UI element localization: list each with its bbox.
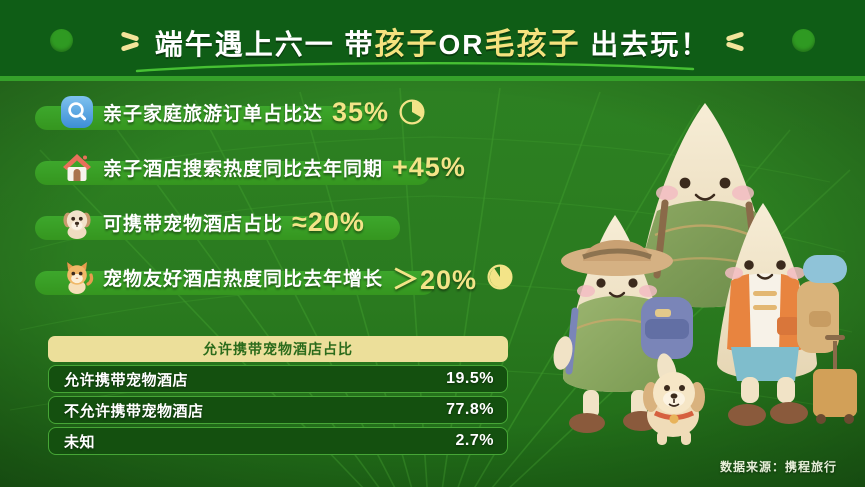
search-icon xyxy=(57,92,97,132)
table-cell-value: 77.8% xyxy=(446,401,494,419)
bullet-text: 亲子家庭旅游订单占比达 35% xyxy=(103,93,426,131)
table-cell-label: 未知 xyxy=(64,431,95,452)
data-source-credit: 数据来源：携程旅行 xyxy=(720,458,837,475)
bullet-text: 亲子酒店搜索热度同比去年同期 +45% xyxy=(103,148,466,186)
stat-bullet: 亲子家庭旅游订单占比达 35% xyxy=(0,90,560,145)
mascot-dog xyxy=(643,372,705,445)
title-highlight-2: 毛孩子 xyxy=(485,28,581,61)
bullet-text: 可携带宠物酒店占比 ≈20% xyxy=(103,203,365,241)
pie-chart-icon xyxy=(486,263,514,291)
sparkle-left-icon xyxy=(119,27,145,55)
bullet-label: 亲子酒店搜索热度同比去年同期 xyxy=(103,154,383,181)
stat-bullet: 宠物友好酒店热度同比去年增长 ＞20% xyxy=(0,255,560,310)
page-title: 端午遇上六一 带孩子OR毛孩子 出去玩！ xyxy=(155,19,711,63)
table-cell-value: 19.5% xyxy=(446,370,494,388)
title-wrap: 端午遇上六一 带孩子OR毛孩子 出去玩！ xyxy=(0,0,865,81)
table-title: 允许携带宠物酒店占比 xyxy=(48,336,508,362)
table-row: 允许携带宠物酒店 19.5% xyxy=(48,365,508,393)
bullet-label: 可携带宠物酒店占比 xyxy=(103,209,283,236)
pie-chart-icon xyxy=(398,98,426,126)
zongzi-family-illustration xyxy=(545,85,865,455)
stat-bullet-list: 亲子家庭旅游订单占比达 35% 亲子酒店搜索热度同比去年同期 +45% xyxy=(0,90,560,310)
bullet-value: 35% xyxy=(332,97,389,128)
bullet-value: ≈20% xyxy=(292,207,365,238)
table-row: 不允许携带宠物酒店 77.8% xyxy=(48,396,508,424)
header-band: 端午遇上六一 带孩子OR毛孩子 出去玩！ xyxy=(0,0,865,81)
stat-bullet: 可携带宠物酒店占比 ≈20% xyxy=(0,200,560,255)
title-part-3: 出去玩！ xyxy=(581,29,711,60)
table-row: 未知 2.7% xyxy=(48,427,508,455)
bullet-value: +45% xyxy=(392,152,466,183)
bullet-text: 宠物友好酒店热度同比去年增长 ＞20% xyxy=(103,258,514,296)
bullet-value: ＞20% xyxy=(392,258,477,297)
title-highlight-1: 孩子 xyxy=(375,28,439,61)
table-cell-label: 允许携带宠物酒店 xyxy=(64,369,188,390)
sparkle-right-icon xyxy=(720,27,746,55)
title-part-1: 端午遇上六一 带 xyxy=(155,29,375,60)
table-cell-value: 2.7% xyxy=(456,432,494,450)
infographic-stage: 端午遇上六一 带孩子OR毛孩子 出去玩！ 亲子家庭旅游订单占比达 35% xyxy=(0,0,865,487)
dog-icon xyxy=(57,202,97,242)
pet-policy-table: 允许携带宠物酒店占比 允许携带宠物酒店 19.5% 不允许携带宠物酒店 77.8… xyxy=(48,336,508,455)
title-part-2: OR xyxy=(439,29,485,60)
table-cell-label: 不允许携带宠物酒店 xyxy=(64,400,204,421)
bullet-label: 宠物友好酒店热度同比去年增长 xyxy=(103,264,383,291)
stat-bullet: 亲子酒店搜索热度同比去年同期 +45% xyxy=(0,145,560,200)
bullet-label: 亲子家庭旅游订单占比达 xyxy=(103,99,323,126)
house-icon xyxy=(57,147,97,187)
cat-icon xyxy=(57,257,97,297)
